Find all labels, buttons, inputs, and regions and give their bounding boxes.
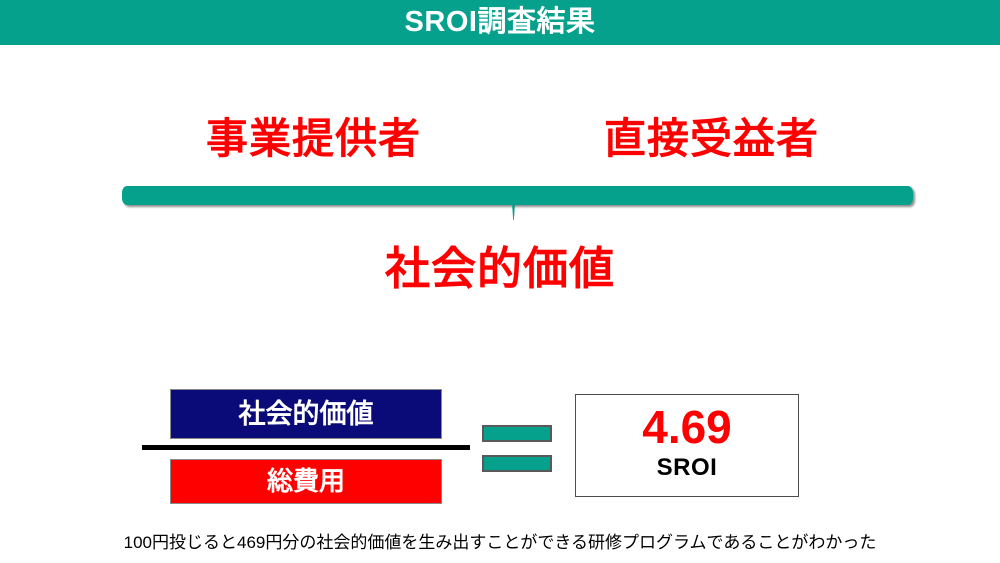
result-box: 4.69 SROI — [575, 394, 799, 497]
footer-caption: 100円投じると469円分の社会的価値を生み出すことができる研修プログラムである… — [0, 532, 1000, 554]
equals-bar-bottom — [482, 455, 552, 472]
equals-bar-top — [482, 425, 552, 442]
sroi-value-label: SROI — [576, 453, 798, 483]
equals-sign-icon — [482, 425, 552, 475]
formula-numerator-box: 社会的価値 — [170, 389, 442, 439]
sroi-value: 4.69 — [576, 401, 798, 453]
formula-fraction-bar — [142, 445, 470, 450]
formula-denominator-box: 総費用 — [170, 459, 442, 504]
sroi-formula: 社会的価値 総費用 4.69 SROI — [0, 0, 1000, 563]
